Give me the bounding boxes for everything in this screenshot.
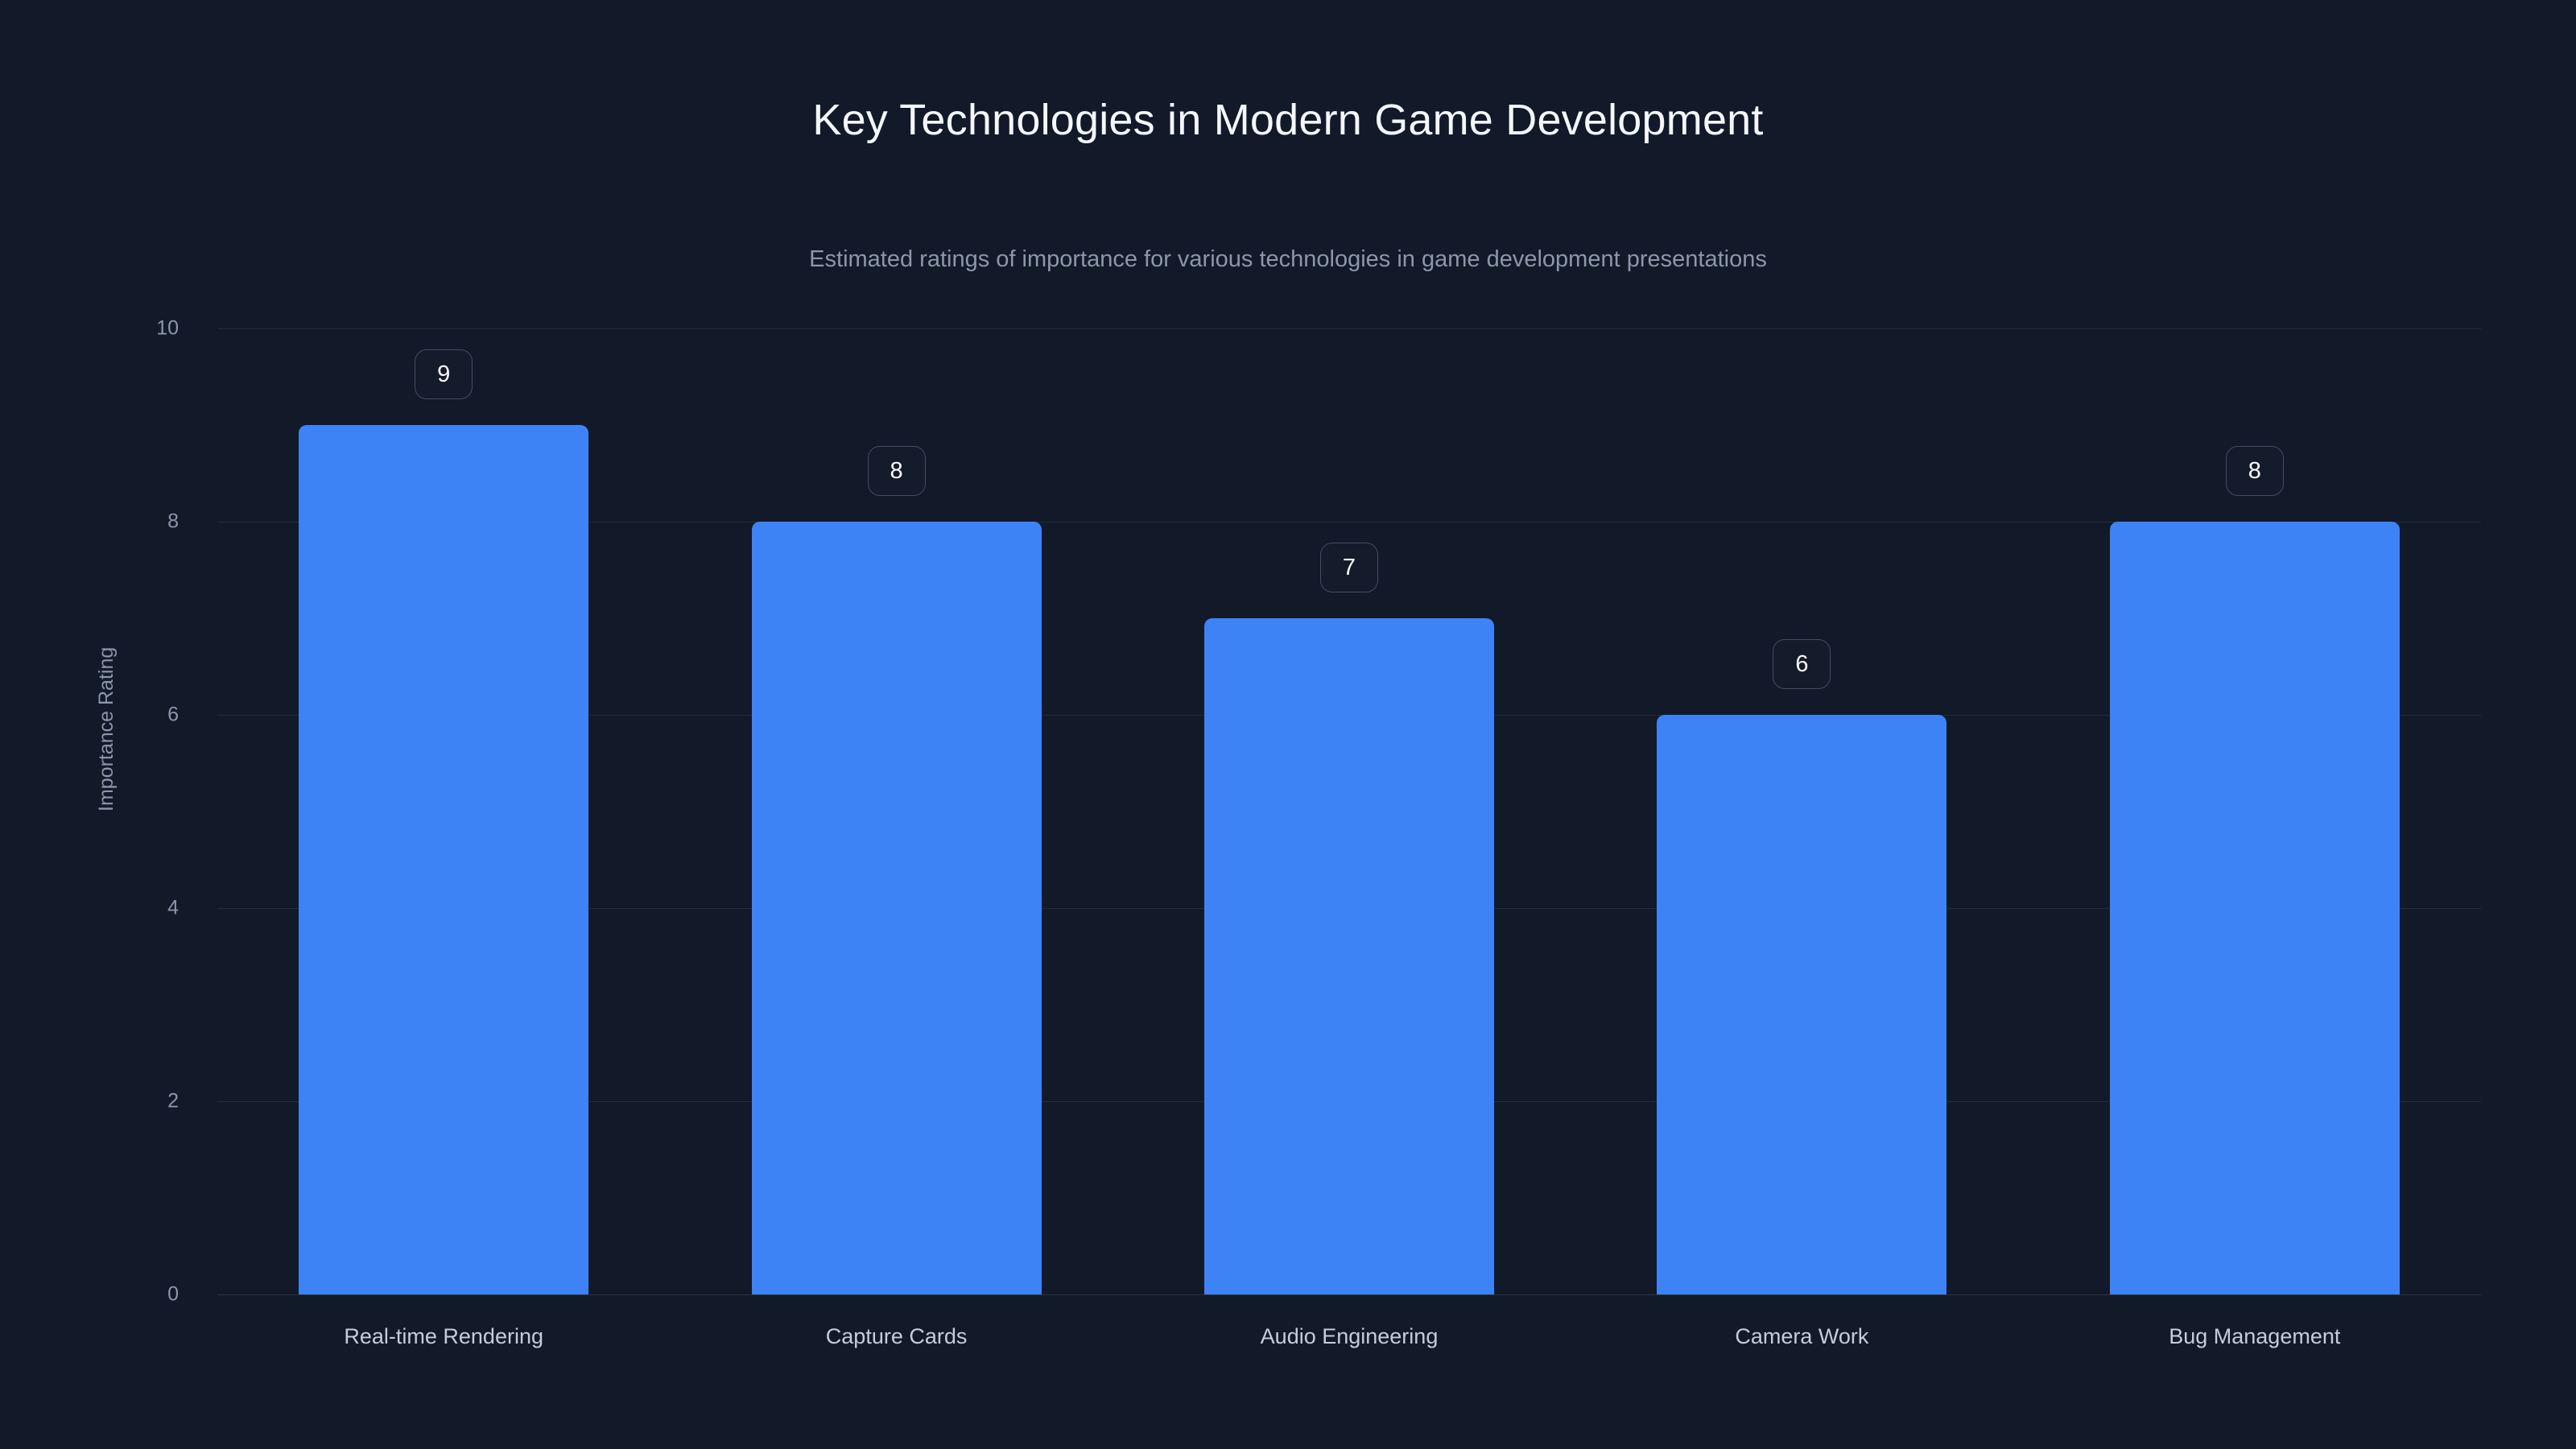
bar[interactable] bbox=[752, 522, 1042, 1294]
bar[interactable] bbox=[1204, 618, 1494, 1294]
bar-value-badge: 8 bbox=[868, 446, 926, 496]
x-tick-label: Bug Management bbox=[2169, 1324, 2340, 1349]
y-tick-label: 6 bbox=[167, 704, 179, 727]
x-axis-tick-labels: Real-time RenderingCapture CardsAudio En… bbox=[217, 1324, 2481, 1373]
y-tick-label: 8 bbox=[167, 510, 179, 534]
x-tick-label: Real-time Rendering bbox=[344, 1324, 543, 1349]
chart-subtitle: Estimated ratings of importance for vari… bbox=[0, 246, 2576, 274]
bar[interactable] bbox=[299, 425, 588, 1294]
bar-value-badge: 8 bbox=[2226, 446, 2284, 496]
bar[interactable] bbox=[2110, 522, 2400, 1294]
gridline bbox=[217, 1294, 2481, 1295]
bar-group[interactable]: 8 bbox=[752, 328, 1042, 1294]
y-tick-label: 2 bbox=[167, 1090, 179, 1113]
bar-group[interactable]: 9 bbox=[299, 328, 588, 1294]
bar-value-badge: 9 bbox=[415, 349, 473, 399]
y-tick-label: 0 bbox=[167, 1283, 179, 1307]
y-axis-tick-labels: 0246810 bbox=[0, 328, 198, 1294]
x-tick-label: Camera Work bbox=[1735, 1324, 1868, 1349]
y-tick-label: 10 bbox=[156, 317, 179, 341]
chart-title: Key Technologies in Modern Game Developm… bbox=[0, 95, 2576, 145]
bar-value-badge: 7 bbox=[1320, 543, 1378, 592]
bar-group[interactable]: 7 bbox=[1204, 328, 1494, 1294]
y-tick-label: 4 bbox=[167, 897, 179, 920]
bar-group[interactable]: 8 bbox=[2110, 328, 2400, 1294]
x-tick-label: Capture Cards bbox=[826, 1324, 968, 1349]
bar[interactable] bbox=[1657, 715, 1946, 1294]
bars-layer: 98768 bbox=[217, 328, 2481, 1294]
chart-page: Key Technologies in Modern Game Developm… bbox=[0, 0, 2576, 1449]
bar-group[interactable]: 6 bbox=[1657, 328, 1946, 1294]
bar-value-badge: 6 bbox=[1773, 639, 1831, 689]
x-tick-label: Audio Engineering bbox=[1261, 1324, 1439, 1349]
